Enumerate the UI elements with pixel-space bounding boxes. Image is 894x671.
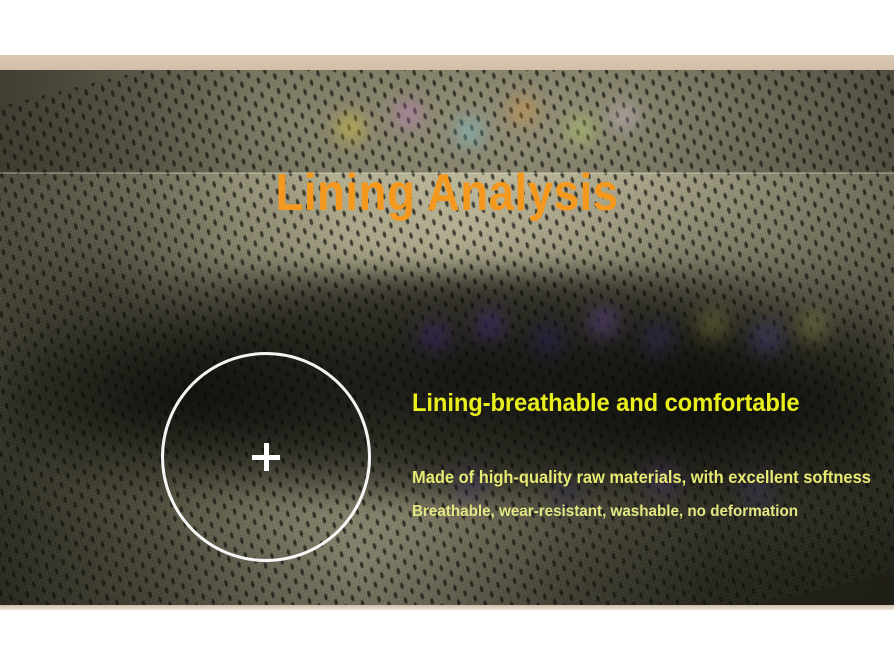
lining-analysis-banner: Lining Analysis Lining-breathable and co… (0, 0, 894, 671)
feature-line-2: Made of high-quality raw materials, with… (412, 418, 854, 488)
bottom-accent-rule (0, 605, 894, 610)
page-title: Lining Analysis (54, 164, 841, 222)
plus-icon[interactable] (252, 443, 280, 471)
feature-headline: Lining-breathable and comfortable (412, 388, 859, 418)
top-accent-rule (0, 55, 894, 70)
title-watermark-blur (300, 72, 660, 168)
feature-line-3: Breathable, wear-resistant, washable, no… (412, 488, 859, 522)
fabric-photo: Lining Analysis Lining-breathable and co… (0, 70, 894, 608)
feature-copy-block: Lining-breathable and comfortable Made o… (412, 388, 882, 522)
copy-watermark-blur (410, 288, 830, 374)
